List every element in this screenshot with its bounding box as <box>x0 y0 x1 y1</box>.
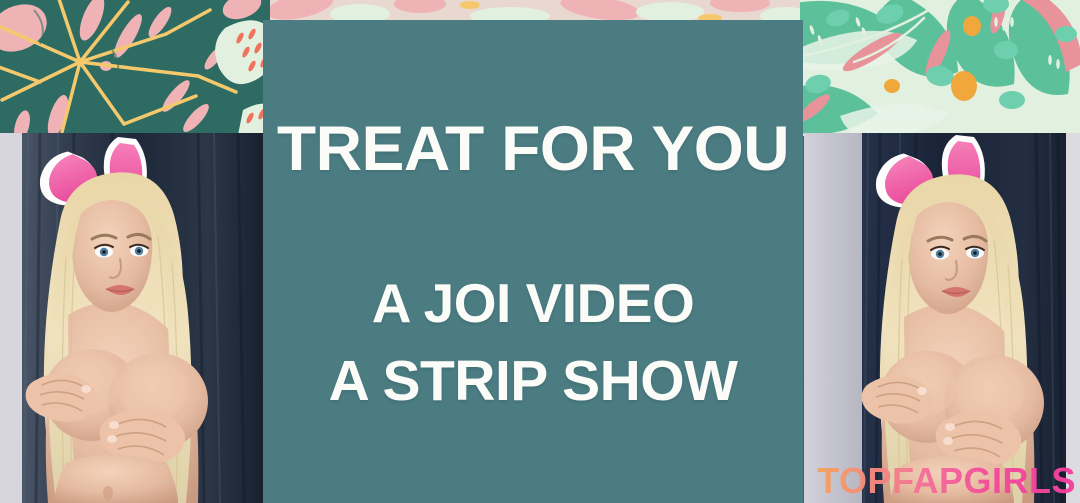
site-watermark: TOPFAPGIRLS <box>817 461 1076 501</box>
tropical-leaf-pattern-left <box>0 0 270 136</box>
promo-panel: TREAT FOR YOU A JOI VIDEO A STRIP SHOW <box>263 20 803 503</box>
promo-headline-secondary: A JOI VIDEO <box>263 276 803 331</box>
poster-canvas: TREAT FOR YOU A JOI VIDEO A STRIP SHOW T… <box>0 0 1080 503</box>
promo-headline-tertiary: A STRIP SHOW <box>263 353 803 410</box>
tropical-leaf-pattern-top-strip <box>270 0 810 22</box>
model-photo-right <box>804 133 1080 503</box>
promo-headline-primary: TREAT FOR YOU <box>258 118 809 181</box>
model-photo-left <box>0 133 270 503</box>
tropical-leaf-pattern-right <box>800 0 1080 136</box>
